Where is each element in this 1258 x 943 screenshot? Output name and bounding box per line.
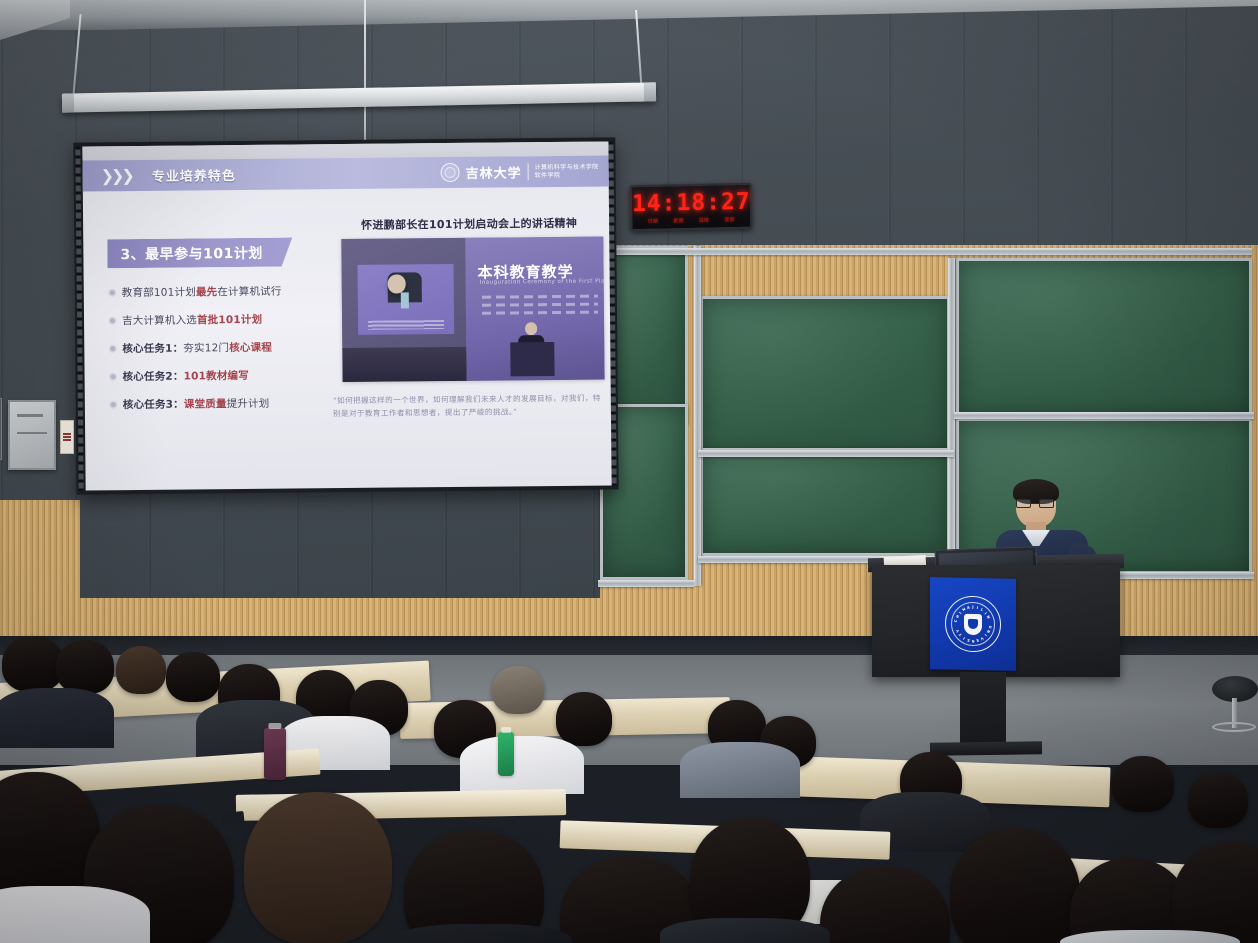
audience-head: [820, 866, 950, 943]
housing-cap-left: [62, 93, 74, 112]
audience-torso: [0, 688, 114, 748]
slide-header: ❯❯❯ 专业培养特色 吉林大学 计算机科学与技术学院 软件学院: [82, 155, 608, 191]
photo-right-half: 本科教育教学 Inauguration Ceremony of the Firs…: [465, 237, 604, 381]
list-item: 核心任务2：101教材编写: [111, 369, 341, 384]
photo-left-half: [341, 238, 466, 382]
audience-head: [1112, 756, 1174, 812]
photo-banner-subtitle: Inauguration Ceremony of the First Plan: [480, 278, 605, 285]
department-name-2: 软件学院: [535, 172, 599, 180]
slide-quote: “如何把握这样的一个世界，如何理解我们未来人才的发展目标，对我们，特别是对于教育…: [333, 393, 605, 421]
warning-sign-icon: [60, 420, 74, 454]
blackboard-rail-vertical-1: [694, 246, 701, 586]
audience-torso: [660, 918, 830, 943]
bullet-text: 教育部101计划最先在计算机试行: [122, 286, 282, 301]
bullet-text: 核心任务1：夯实12门核心课程: [122, 342, 272, 356]
photo-speaker-tie: [401, 292, 409, 308]
clock-indicator: 星期: [673, 217, 684, 224]
slide-bullet-list: 教育部101计划最先在计算机试行 吉大计算机入选首批101计划 核心任务1：夯实…: [110, 285, 341, 427]
slide-header-title: 专业培养特色: [152, 165, 236, 185]
photo-podium: [510, 342, 554, 376]
list-item: 核心任务3：课堂质量提升计划: [111, 397, 341, 412]
slide-photo: 本科教育教学 Inauguration Ceremony of the Firs…: [341, 237, 604, 383]
blackboard-rail-mid-right: [954, 412, 1254, 419]
clock-indicator: 温度: [699, 216, 710, 223]
clock-indicator: 日期: [648, 217, 659, 224]
list-item: 核心任务1：夯实12门核心课程: [110, 341, 340, 356]
university-crest-icon: JILIN UNIVERSITY CHINA: [945, 595, 1001, 652]
department-names: 计算机科学与技术学院 软件学院: [535, 164, 599, 180]
slide-photo-caption: 怀进鹏部长在101计划启动会上的讲话精神: [335, 215, 603, 234]
audience-head: [1172, 842, 1258, 943]
water-bottle-green: [498, 732, 514, 776]
blackboard-rail-top: [600, 248, 1252, 255]
blackboard-panel-center-upper: [700, 296, 950, 456]
photo-inner-screen: [358, 264, 455, 335]
audience-torso: [392, 924, 572, 943]
department-name-1: 计算机科学与技术学院: [535, 164, 599, 172]
blackboard-rail-vertical-2: [948, 258, 955, 588]
bullet-text: 核心任务3：课堂质量提升计划: [123, 398, 270, 412]
bottle-cap: [501, 727, 511, 733]
audience-torso: [460, 736, 584, 794]
projected-slide: ❯❯❯ 专业培养特色 吉林大学 计算机科学与技术学院 软件学院: [82, 141, 611, 490]
wall-cabinet-door[interactable]: [0, 398, 2, 460]
photo-banner-text-rows: [482, 295, 598, 320]
bullet-dot-icon: [110, 290, 115, 295]
photo-speaker-head: [388, 274, 406, 293]
audience-head: [950, 828, 1080, 943]
podium-column: [960, 672, 1006, 750]
blackboard-panel-center-lower: [700, 448, 950, 556]
clock-indicator: 湿度: [724, 216, 735, 223]
audience-head: [244, 792, 392, 943]
slide-section-badge-label: 3、最早参与101计划: [120, 242, 263, 263]
blackboard-rail-mid: [698, 450, 954, 457]
digital-wall-clock: 14:18:27 日期 星期 温度 湿度: [630, 183, 753, 232]
slide-body: 3、最早参与101计划 教育部101计划最先在计算机试行 吉大计算机入选首批10…: [83, 186, 612, 478]
bullet-text: 吉大计算机入选首批101计划: [122, 314, 262, 328]
stool-footring: [1212, 722, 1256, 732]
housing-cap-right: [644, 82, 656, 101]
university-name: 吉林大学: [466, 162, 522, 182]
audience-torso: [1060, 930, 1240, 943]
bullet-dot-icon: [111, 374, 116, 379]
podium-branding-panel: JILIN UNIVERSITY CHINA: [930, 577, 1016, 671]
clock-indicator-row: 日期 星期 温度 湿度: [632, 215, 750, 224]
photo-inner-screen-caption: [368, 320, 444, 330]
glasses-icon: [1015, 499, 1057, 508]
audience-head: [56, 640, 114, 694]
clock-time-display: 14:18:27: [632, 189, 750, 215]
audience-torso: [0, 886, 150, 943]
slide-header-branding: 吉林大学 计算机科学与技术学院 软件学院: [441, 162, 599, 183]
photo-stage-base: [342, 347, 466, 382]
bullet-dot-icon: [111, 402, 116, 407]
audience-torso: [680, 742, 800, 798]
water-bottle-purple: [264, 728, 286, 780]
bullet-dot-icon: [110, 318, 115, 323]
bullet-text: 核心任务2：101教材编写: [123, 370, 249, 384]
photo-speaker-figure: [388, 274, 422, 322]
audience-head: [116, 646, 166, 694]
branding-divider: [528, 163, 529, 180]
bottle-cap: [268, 723, 281, 729]
audience-head: [556, 692, 612, 746]
phone-icon[interactable]: [221, 811, 244, 824]
bullet-dot-icon: [110, 346, 115, 351]
audience-head: [166, 652, 220, 702]
audience-head: [1188, 772, 1248, 828]
list-item: 教育部101计划最先在计算机试行: [110, 285, 340, 300]
podium-base: [930, 741, 1042, 756]
audience-head: [2, 636, 64, 692]
wall-cabinet-icon[interactable]: [8, 400, 56, 470]
blackboard-rail-bottom-left: [598, 580, 694, 587]
audience-head: [492, 666, 544, 714]
crest-shield: [964, 613, 982, 634]
university-seal-icon: [441, 163, 460, 182]
projection-screen: ❯❯❯ 专业培养特色 吉林大学 计算机科学与技术学院 软件学院: [73, 137, 618, 494]
photo-podium-speaker-head: [525, 322, 537, 335]
lecture-hall-photo: ❯❯❯ 专业培养特色 吉林大学 计算机科学与技术学院 软件学院: [0, 0, 1258, 943]
chevrons-right-icon: ❯❯❯: [101, 166, 132, 185]
list-item: 吉大计算机入选首批101计划: [110, 313, 340, 328]
blackboard-panel-right-upper: [956, 258, 1252, 416]
slide-section-badge: 3、最早参与101计划: [107, 238, 292, 269]
